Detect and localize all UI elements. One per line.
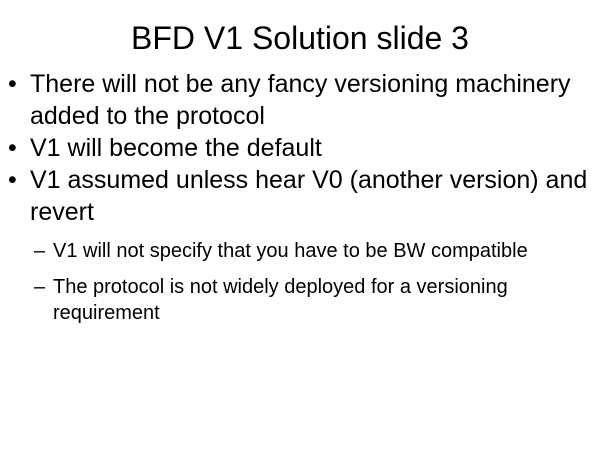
list-item-label: V1 assumed unless hear V0 (another versi… [30,166,587,226]
sub-list-item: – The protocol is not widely deployed fo… [0,274,600,326]
list-item: • V1 assumed unless hear V0 (another ver… [0,164,600,228]
bullet-dash-icon: – [34,274,50,300]
page-title: BFD V1 Solution slide 3 [0,19,600,57]
list-item: • There will not be any fancy versioning… [0,68,600,132]
sub-list: – V1 will not specify that you have to b… [0,238,600,326]
bullet-dash-icon: – [34,238,50,264]
bullet-dot-icon: • [8,164,26,196]
presentation-slide: BFD V1 Solution slide 3 • There will not… [0,0,600,450]
sub-list-item-label: The protocol is not widely deployed for … [53,276,508,324]
sub-list-item: – V1 will not specify that you have to b… [0,238,600,264]
slide-body: • There will not be any fancy versioning… [0,68,600,326]
bullet-dot-icon: • [8,132,26,164]
list-item-label: There will not be any fancy versioning m… [30,70,571,130]
bullet-dot-icon: • [8,68,26,100]
list-item: • V1 will become the default [0,132,600,164]
sub-list-item-label: V1 will not specify that you have to be … [53,240,528,262]
list-item-label: V1 will become the default [30,134,322,162]
